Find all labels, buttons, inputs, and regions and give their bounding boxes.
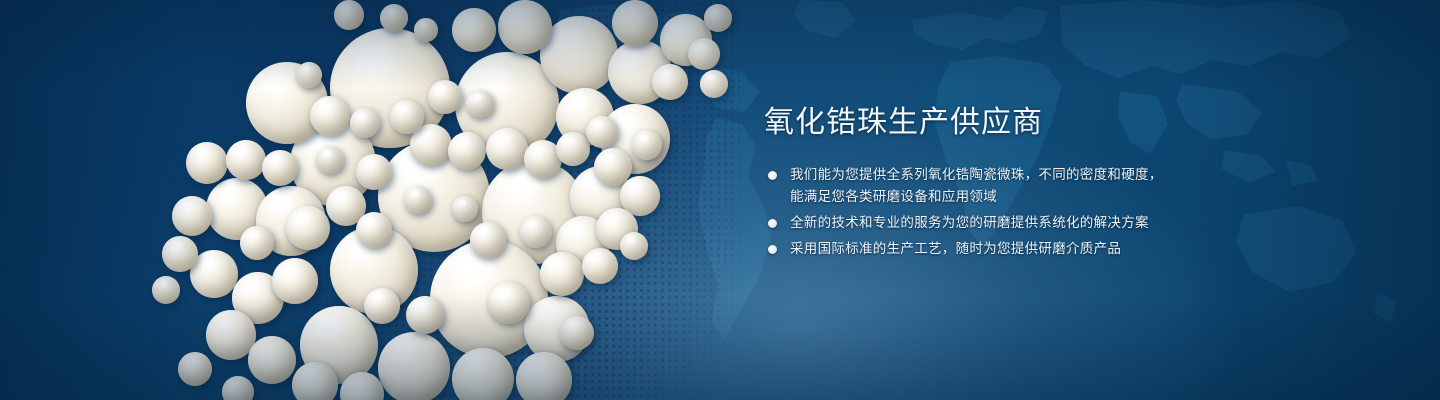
list-item: 采用国际标准的生产工艺，随时为您提供研磨介质产品 bbox=[762, 238, 1322, 260]
bullet-dot-icon bbox=[768, 171, 777, 180]
list-item-line1: 采用国际标准的生产工艺，随时为您提供研磨介质产品 bbox=[790, 241, 1121, 256]
bullet-dot-icon bbox=[768, 219, 777, 228]
list-item: 全新的技术和专业的服务为您的研磨提供系统化的解决方案 bbox=[762, 212, 1322, 234]
list-item-line1: 全新的技术和专业的服务为您的研磨提供系统化的解决方案 bbox=[790, 215, 1149, 230]
bullet-dot-icon bbox=[768, 245, 777, 254]
list-item: 我们能为您提供全系列氧化锆陶瓷微珠，不同的密度和硬度， 能满足您各类研磨设备和应… bbox=[762, 164, 1322, 208]
hero-banner: 氧化锆珠生产供应商 我们能为您提供全系列氧化锆陶瓷微珠，不同的密度和硬度， 能满… bbox=[0, 0, 1440, 400]
hero-copy: 氧化锆珠生产供应商 我们能为您提供全系列氧化锆陶瓷微珠，不同的密度和硬度， 能满… bbox=[762, 104, 1322, 264]
feature-list: 我们能为您提供全系列氧化锆陶瓷微珠，不同的密度和硬度， 能满足您各类研磨设备和应… bbox=[762, 164, 1322, 260]
list-item-line1: 我们能为您提供全系列氧化锆陶瓷微珠，不同的密度和硬度， bbox=[790, 167, 1163, 182]
page-title: 氧化锆珠生产供应商 bbox=[764, 104, 1322, 142]
list-item-line2: 能满足您各类研磨设备和应用领域 bbox=[790, 186, 1322, 208]
